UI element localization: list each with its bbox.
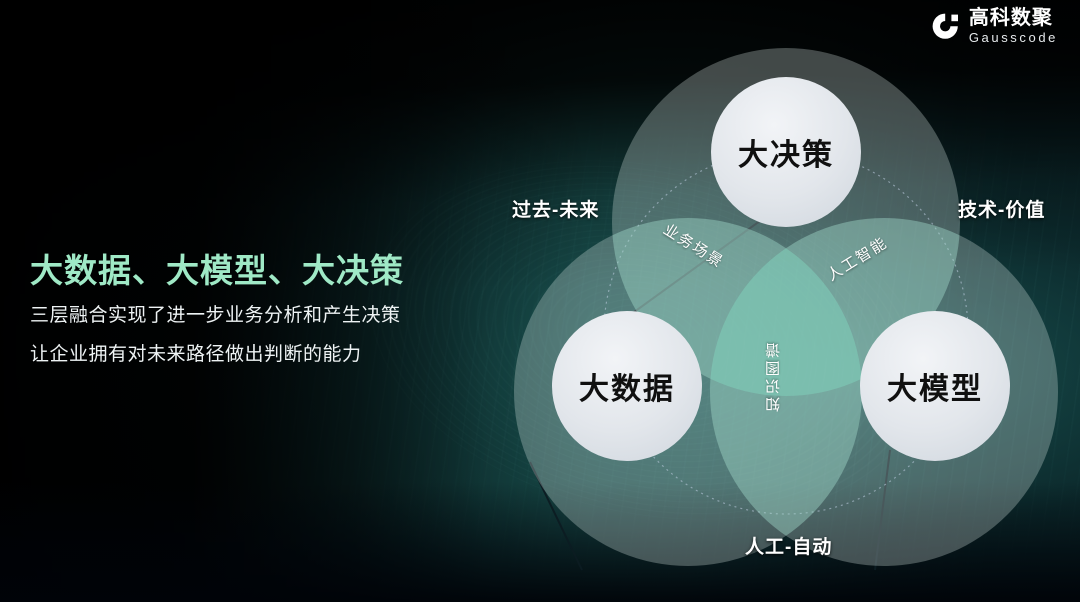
headline-block: 大数据、大模型、大决策 三层融合实现了进一步业务分析和产生决策 让企业拥有对未来… <box>30 252 460 364</box>
axis-label-past-future: 过去-未来 <box>512 195 599 222</box>
intersection-label-knowledge-graph: 知识图谱 <box>763 340 784 412</box>
venn-diagram <box>470 10 1070 590</box>
axis-label-manual-auto: 人工-自动 <box>745 532 832 559</box>
brand-name-cn: 高科数聚 <box>969 8 1058 28</box>
core-label-bigdata: 大数据 <box>579 364 675 408</box>
brand-logo: 高科数聚 Gausscode <box>931 8 1058 44</box>
slide-root: 大决策 大数据 大模型 业务场景 人工智能 知识图谱 过去-未来 技术-价值 人… <box>0 0 1080 602</box>
axis-label-tech-value: 技术-价值 <box>958 195 1045 222</box>
subtitle-line-2: 让企业拥有对未来路径做出判断的能力 <box>30 345 460 364</box>
brand-wordmark: 高科数聚 Gausscode <box>969 8 1058 44</box>
core-label-bigmodel: 大模型 <box>887 364 983 408</box>
gausscode-ring-icon <box>931 12 960 41</box>
core-label-decision: 大决策 <box>738 130 834 174</box>
brand-name-en: Gausscode <box>969 31 1058 44</box>
page-title: 大数据、大模型、大决策 <box>30 252 460 290</box>
subtitle-line-1: 三层融合实现了进一步业务分析和产生决策 <box>30 306 460 325</box>
